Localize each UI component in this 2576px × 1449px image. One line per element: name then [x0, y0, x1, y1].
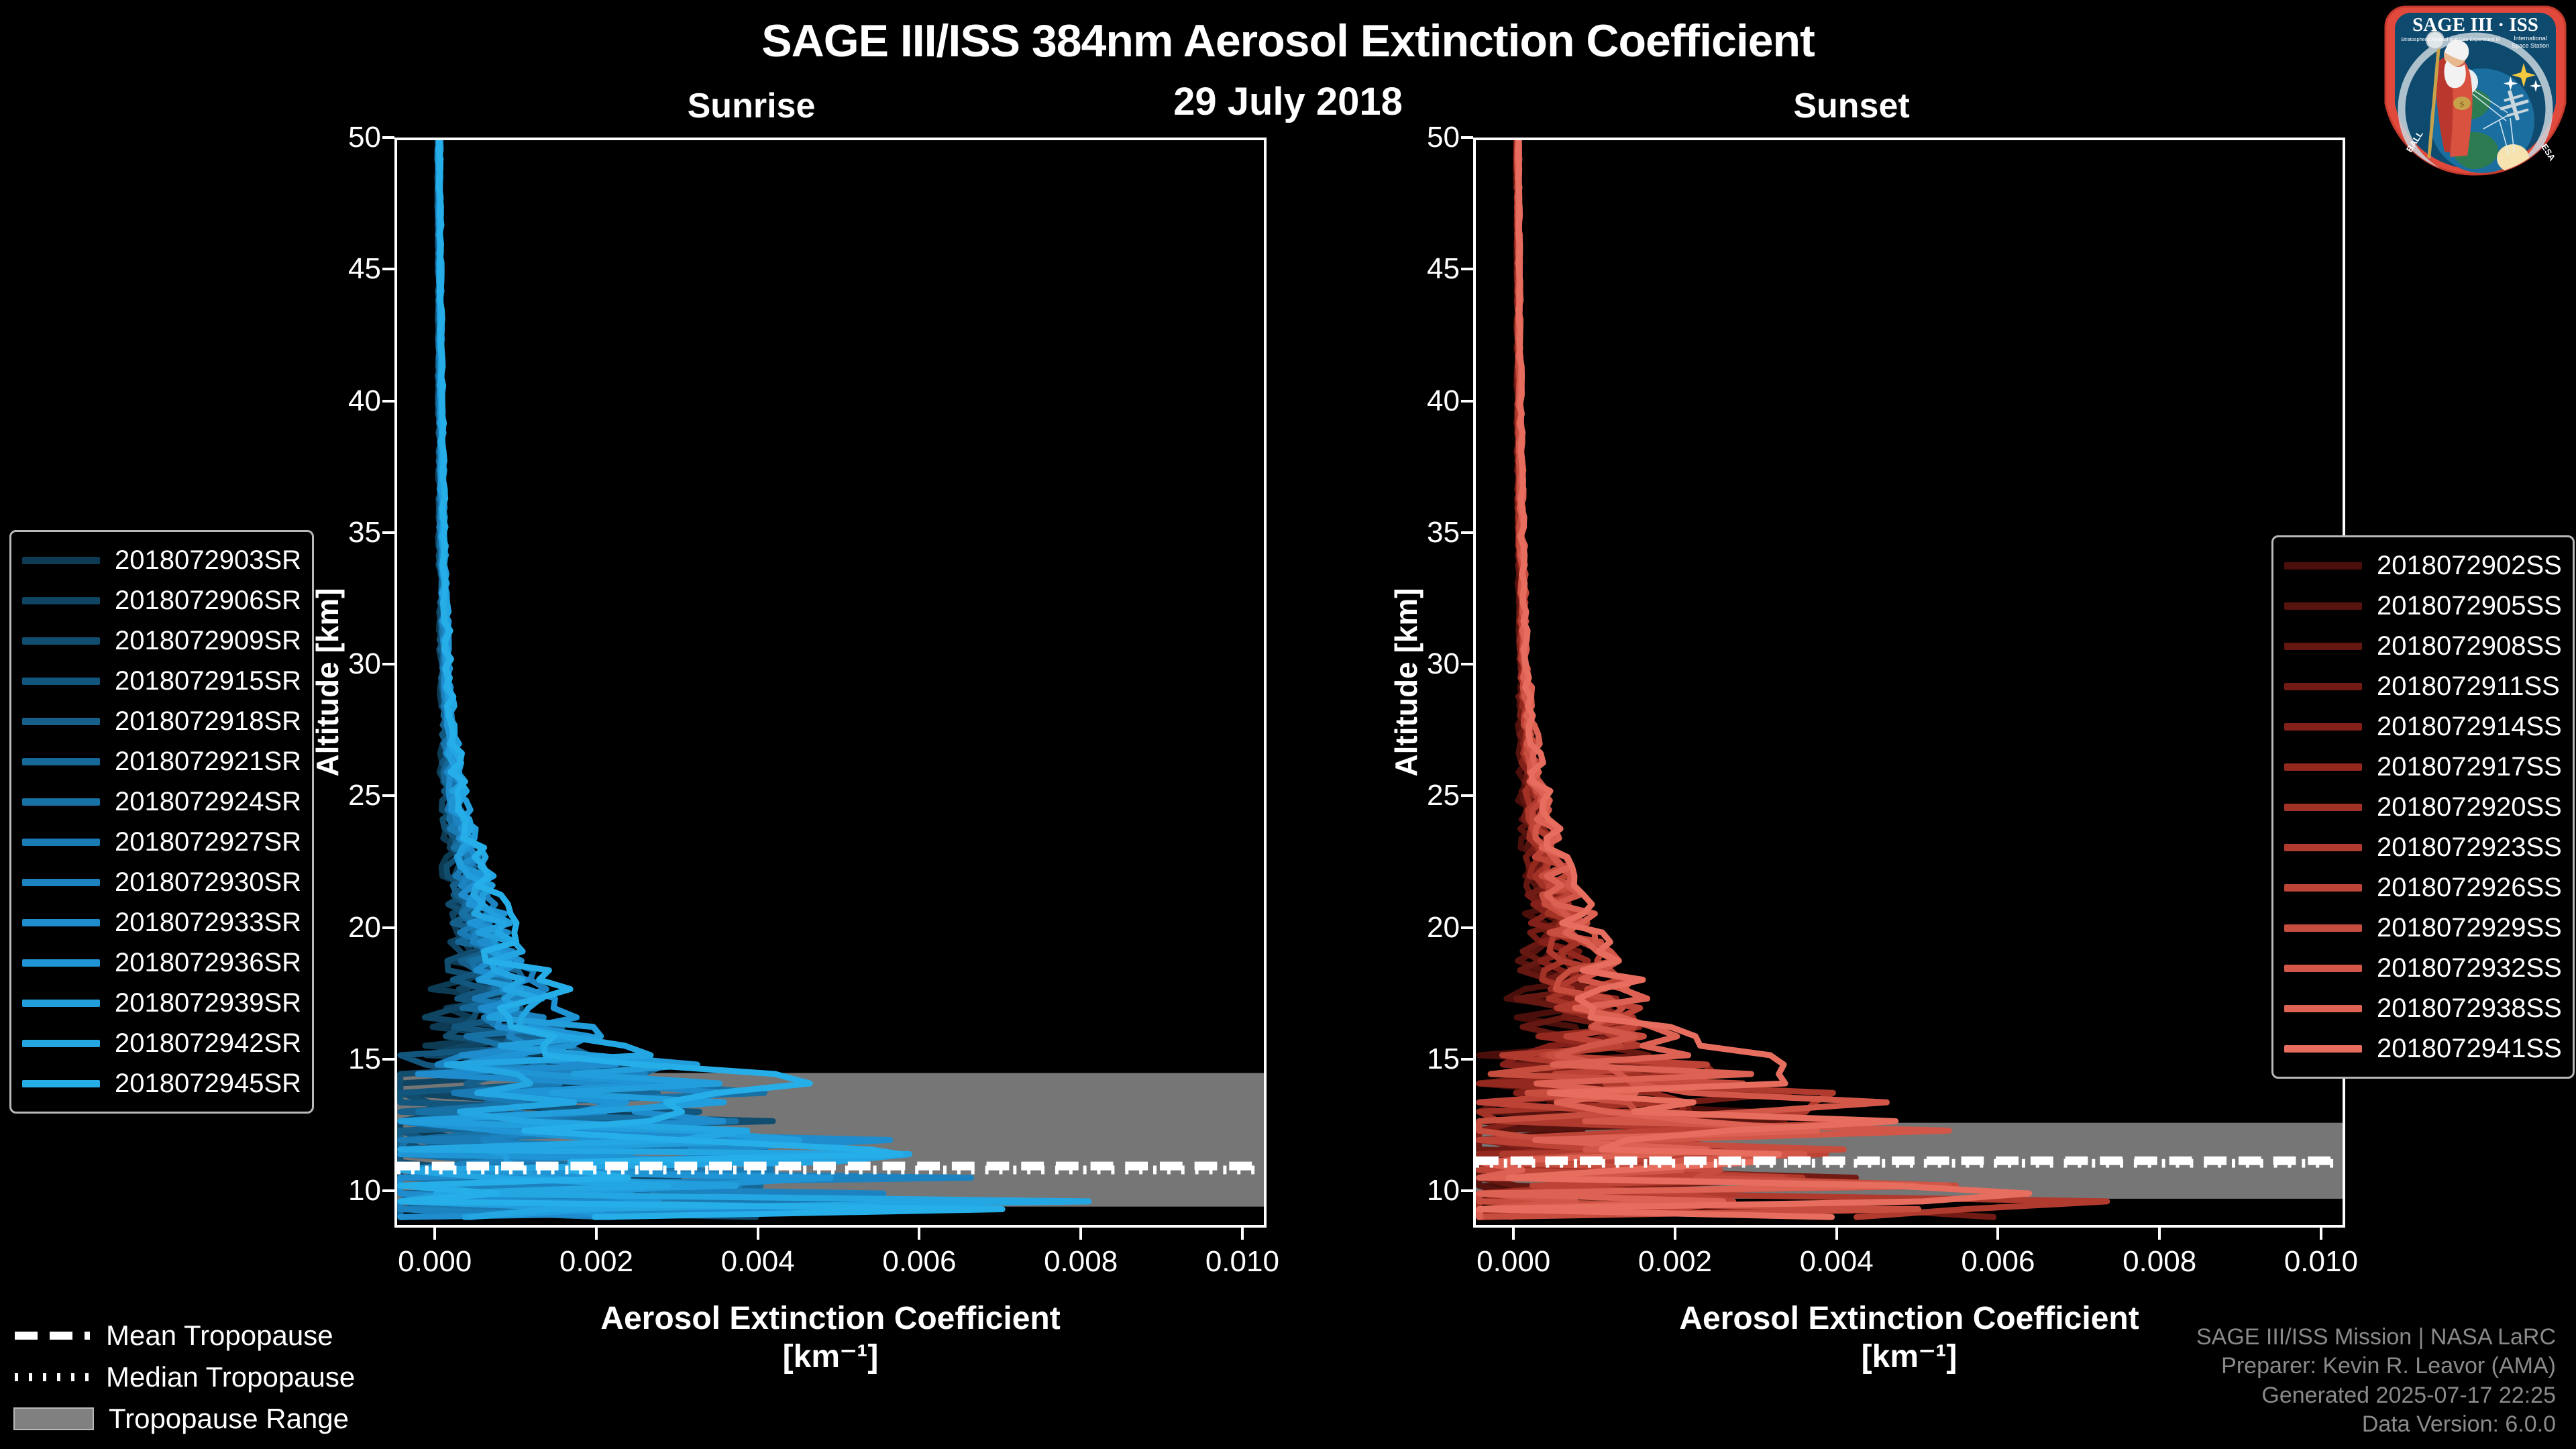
y-axis-label: Altitude [km] — [1388, 528, 1424, 837]
legend-item[interactable]: 2018072930SR — [22, 862, 301, 902]
ytick-label: 45 — [307, 252, 381, 286]
x-axis-label-line2: [km⁻¹] — [341, 1338, 1320, 1377]
ytick-mark — [1461, 663, 1473, 665]
ytick-mark — [1461, 926, 1473, 929]
ytick-mark — [1461, 136, 1473, 139]
plot-panel-sunset — [1473, 138, 2345, 1228]
legend-swatch — [2284, 562, 2362, 570]
page-title: SAGE III/ISS 384nm Aerosol Extinction Co… — [0, 15, 2576, 67]
legend-item[interactable]: 2018072918SR — [22, 701, 301, 741]
legend-swatch — [2284, 643, 2362, 650]
legend-label: 2018072929SS — [2377, 913, 2562, 943]
xtick-label: 0.010 — [1205, 1245, 1279, 1279]
patch-subtitle-right-1: International — [2514, 35, 2547, 42]
xtick-mark — [2158, 1228, 2161, 1240]
legend-item[interactable]: 2018072903SR — [22, 540, 301, 580]
panel-heading-sunset: Sunset — [1664, 86, 2039, 126]
ytick-mark — [382, 1189, 394, 1192]
legend-label: 2018072906SR — [115, 586, 301, 616]
legend-label: 2018072905SS — [2377, 591, 2562, 621]
legend-swatch — [2284, 844, 2362, 851]
legend-label: 2018072909SR — [115, 626, 301, 656]
legend-label: 2018072936SR — [115, 948, 301, 978]
profile-line — [400, 140, 922, 1217]
legend-swatch — [2284, 683, 2362, 690]
legend-swatch — [2284, 763, 2362, 771]
legend-swatch — [22, 1040, 100, 1047]
legend-item[interactable]: 2018072927SR — [22, 822, 301, 862]
footer-line: SAGE III/ISS Mission | NASA LaRC — [2196, 1323, 2556, 1352]
legend-label: 2018072939SR — [115, 988, 301, 1018]
legend-label: 2018072945SR — [115, 1069, 301, 1099]
xtick-mark — [2320, 1228, 2322, 1240]
ytick-mark — [1461, 531, 1473, 534]
legend-item[interactable]: 2018072941SS — [2284, 1028, 2562, 1069]
xtick-mark — [595, 1228, 598, 1240]
legend-label: 2018072924SR — [115, 787, 301, 817]
legend-label: 2018072932SS — [2377, 953, 2562, 983]
legend-item[interactable]: 2018072911SS — [2284, 666, 2562, 706]
legend-label: 2018072915SR — [115, 666, 301, 696]
ytick-label: 50 — [307, 121, 381, 154]
ytick-mark — [382, 663, 394, 665]
xtick-label: 0.004 — [721, 1245, 795, 1279]
ytick-mark — [1461, 400, 1473, 402]
xtick-label: 0.000 — [398, 1245, 472, 1279]
ytick-mark — [382, 400, 394, 402]
xtick-mark — [1512, 1228, 1515, 1240]
xtick-label: 0.000 — [1477, 1245, 1550, 1279]
legend-swatch — [22, 557, 100, 564]
xtick-mark — [1079, 1228, 1082, 1240]
xtick-label: 0.010 — [2284, 1245, 2358, 1279]
xtick-label: 0.006 — [882, 1245, 956, 1279]
legend-tropopause: Mean Tropopause Median Tropopause Tropop… — [13, 1315, 355, 1440]
legend-swatch — [22, 959, 100, 967]
legend-sunset[interactable]: 2018072902SS2018072905SS2018072908SS2018… — [2271, 535, 2575, 1079]
legend-label: 2018072921SR — [115, 747, 301, 777]
legend-label: 2018072941SS — [2377, 1034, 2562, 1064]
legend-label: 2018072930SR — [115, 867, 301, 898]
legend-item[interactable]: 2018072945SR — [22, 1063, 301, 1104]
legend-item: Tropopause Range — [13, 1398, 355, 1440]
legend-item[interactable]: 2018072917SS — [2284, 747, 2562, 787]
legend-swatch — [2284, 1045, 2362, 1053]
x-axis-label: Aerosol Extinction Coefficient [km⁻¹] — [341, 1300, 1320, 1376]
legend-swatch — [2284, 723, 2362, 731]
legend-label: 2018072920SS — [2377, 792, 2562, 822]
legend-item[interactable]: 2018072929SS — [2284, 908, 2562, 948]
ytick-label: 15 — [1386, 1042, 1460, 1076]
patch-subtitle-right-2: Space Station — [2512, 42, 2549, 49]
sage-iii-iss-mission-patch-logo: S SAGE III · ISS Stratospheric Aerosol a… — [2381, 3, 2569, 177]
ytick-label: 40 — [307, 384, 381, 418]
legend-label: Median Tropopause — [106, 1361, 355, 1393]
legend-item[interactable]: 2018072938SS — [2284, 988, 2562, 1028]
ytick-mark — [1461, 268, 1473, 270]
mean-tropopause-icon — [13, 1328, 91, 1343]
ytick-mark — [382, 794, 394, 797]
ytick-label: 10 — [307, 1174, 381, 1207]
legend-item[interactable]: 2018072932SS — [2284, 948, 2562, 988]
ytick-mark — [1461, 794, 1473, 797]
xtick-mark — [1674, 1228, 1676, 1240]
legend-item[interactable]: 2018072923SS — [2284, 827, 2562, 867]
legend-label: Tropopause Range — [109, 1403, 349, 1435]
profile-line — [1479, 140, 1956, 1217]
patch-subtitle-left: Stratospheric Aerosol and Gas Experiment… — [2401, 36, 2500, 42]
legend-label: 2018072902SS — [2377, 551, 2562, 581]
legend-item[interactable]: 2018072926SS — [2284, 867, 2562, 908]
patch-title: SAGE III · ISS — [2412, 14, 2538, 36]
legend-swatch — [22, 839, 100, 846]
xtick-label: 0.008 — [1044, 1245, 1118, 1279]
panel-heading-sunrise: Sunrise — [563, 86, 939, 126]
tropopause-range-icon — [13, 1407, 94, 1430]
legend-item[interactable]: 2018072909SR — [22, 621, 301, 661]
legend-swatch — [22, 758, 100, 765]
legend-item[interactable]: 2018072905SS — [2284, 586, 2562, 626]
xtick-mark — [433, 1228, 436, 1240]
xtick-label: 0.002 — [559, 1245, 633, 1279]
legend-swatch — [22, 919, 100, 926]
legend-swatch — [22, 718, 100, 725]
legend-swatch — [2284, 924, 2362, 932]
legend-swatch — [22, 798, 100, 806]
legend-swatch — [2284, 804, 2362, 811]
legend-label: Mean Tropopause — [106, 1320, 333, 1352]
legend-swatch — [22, 637, 100, 645]
ytick-mark — [382, 268, 394, 270]
ytick-mark — [1461, 1058, 1473, 1061]
legend-item: Median Tropopause — [13, 1356, 355, 1398]
xtick-mark — [757, 1228, 759, 1240]
legend-label: 2018072903SR — [115, 545, 301, 576]
legend-item: Mean Tropopause — [13, 1315, 355, 1356]
ytick-label: 50 — [1386, 121, 1460, 154]
legend-swatch — [22, 1080, 100, 1087]
footer-line: Data Version: 6.0.0 — [2196, 1410, 2556, 1440]
ytick-label: 15 — [307, 1042, 381, 1076]
xtick-mark — [1241, 1228, 1244, 1240]
legend-swatch — [2284, 602, 2362, 610]
ytick-label: 20 — [1386, 911, 1460, 945]
legend-label: 2018072914SS — [2377, 712, 2562, 742]
xtick-label: 0.008 — [2123, 1245, 2196, 1279]
xtick-label: 0.002 — [1638, 1245, 1712, 1279]
plot-canvas-sunset — [1476, 140, 2343, 1225]
legend-item[interactable]: 2018072915SR — [22, 661, 301, 701]
ytick-mark — [382, 926, 394, 929]
legend-sunrise[interactable]: 2018072903SR2018072906SR2018072909SR2018… — [9, 530, 314, 1114]
legend-swatch — [2284, 1005, 2362, 1012]
legend-item[interactable]: 2018072939SR — [22, 983, 301, 1023]
legend-item[interactable]: 2018072920SS — [2284, 787, 2562, 827]
y-axis-label: Altitude [km] — [309, 528, 345, 837]
legend-label: 2018072918SR — [115, 706, 301, 737]
legend-item[interactable]: 2018072914SS — [2284, 706, 2562, 747]
legend-label: 2018072911SS — [2377, 672, 2560, 702]
legend-swatch — [2284, 884, 2362, 892]
footer-line: Generated 2025-07-17 22:25 — [2196, 1381, 2556, 1411]
ytick-mark — [382, 136, 394, 139]
ytick-mark — [382, 1058, 394, 1061]
ytick-mark — [382, 531, 394, 534]
legend-swatch — [22, 678, 100, 685]
legend-swatch — [22, 1000, 100, 1007]
legend-label: 2018072942SR — [115, 1028, 301, 1059]
xtick-mark — [1835, 1228, 1838, 1240]
plot-panel-sunrise — [394, 138, 1267, 1228]
footer-line: Preparer: Kevin R. Leavor (AMA) — [2196, 1352, 2556, 1381]
svg-text:S: S — [2460, 99, 2465, 109]
ytick-label: 20 — [307, 911, 381, 945]
legend-swatch — [22, 879, 100, 886]
footer-attribution: SAGE III/ISS Mission | NASA LaRCPreparer… — [2196, 1323, 2556, 1440]
legend-label: 2018072923SS — [2377, 833, 2562, 863]
legend-label: 2018072927SR — [115, 827, 301, 857]
legend-item[interactable]: 2018072924SR — [22, 782, 301, 822]
legend-item[interactable]: 2018072942SR — [22, 1023, 301, 1063]
xtick-mark — [1996, 1228, 1999, 1240]
x-axis-label-line1: Aerosol Extinction Coefficient — [341, 1300, 1320, 1338]
legend-item[interactable]: 2018072902SS — [2284, 545, 2562, 586]
xtick-mark — [918, 1228, 920, 1240]
legend-swatch — [2284, 965, 2362, 972]
legend-label: 2018072908SS — [2377, 631, 2562, 661]
legend-item[interactable]: 2018072933SR — [22, 902, 301, 943]
legend-label: 2018072917SS — [2377, 752, 2562, 782]
ytick-label: 40 — [1386, 384, 1460, 418]
ytick-label: 45 — [1386, 252, 1460, 286]
legend-label: 2018072938SS — [2377, 994, 2562, 1024]
legend-label: 2018072933SR — [115, 908, 301, 938]
legend-item[interactable]: 2018072936SR — [22, 943, 301, 983]
legend-item[interactable]: 2018072906SR — [22, 580, 301, 621]
legend-item[interactable]: 2018072908SS — [2284, 626, 2562, 666]
ytick-mark — [1461, 1189, 1473, 1192]
patch-ring-text-right: ESA — [2539, 142, 2557, 163]
legend-item[interactable]: 2018072921SR — [22, 741, 301, 782]
plot-canvas-sunrise — [397, 140, 1264, 1225]
legend-label: 2018072926SS — [2377, 873, 2562, 903]
legend-swatch — [22, 597, 100, 604]
xtick-label: 0.004 — [1800, 1245, 1874, 1279]
xtick-label: 0.006 — [1961, 1245, 2035, 1279]
ytick-label: 10 — [1386, 1174, 1460, 1207]
date-subtitle: 29 July 2018 — [0, 79, 2576, 124]
median-tropopause-icon — [13, 1370, 91, 1385]
